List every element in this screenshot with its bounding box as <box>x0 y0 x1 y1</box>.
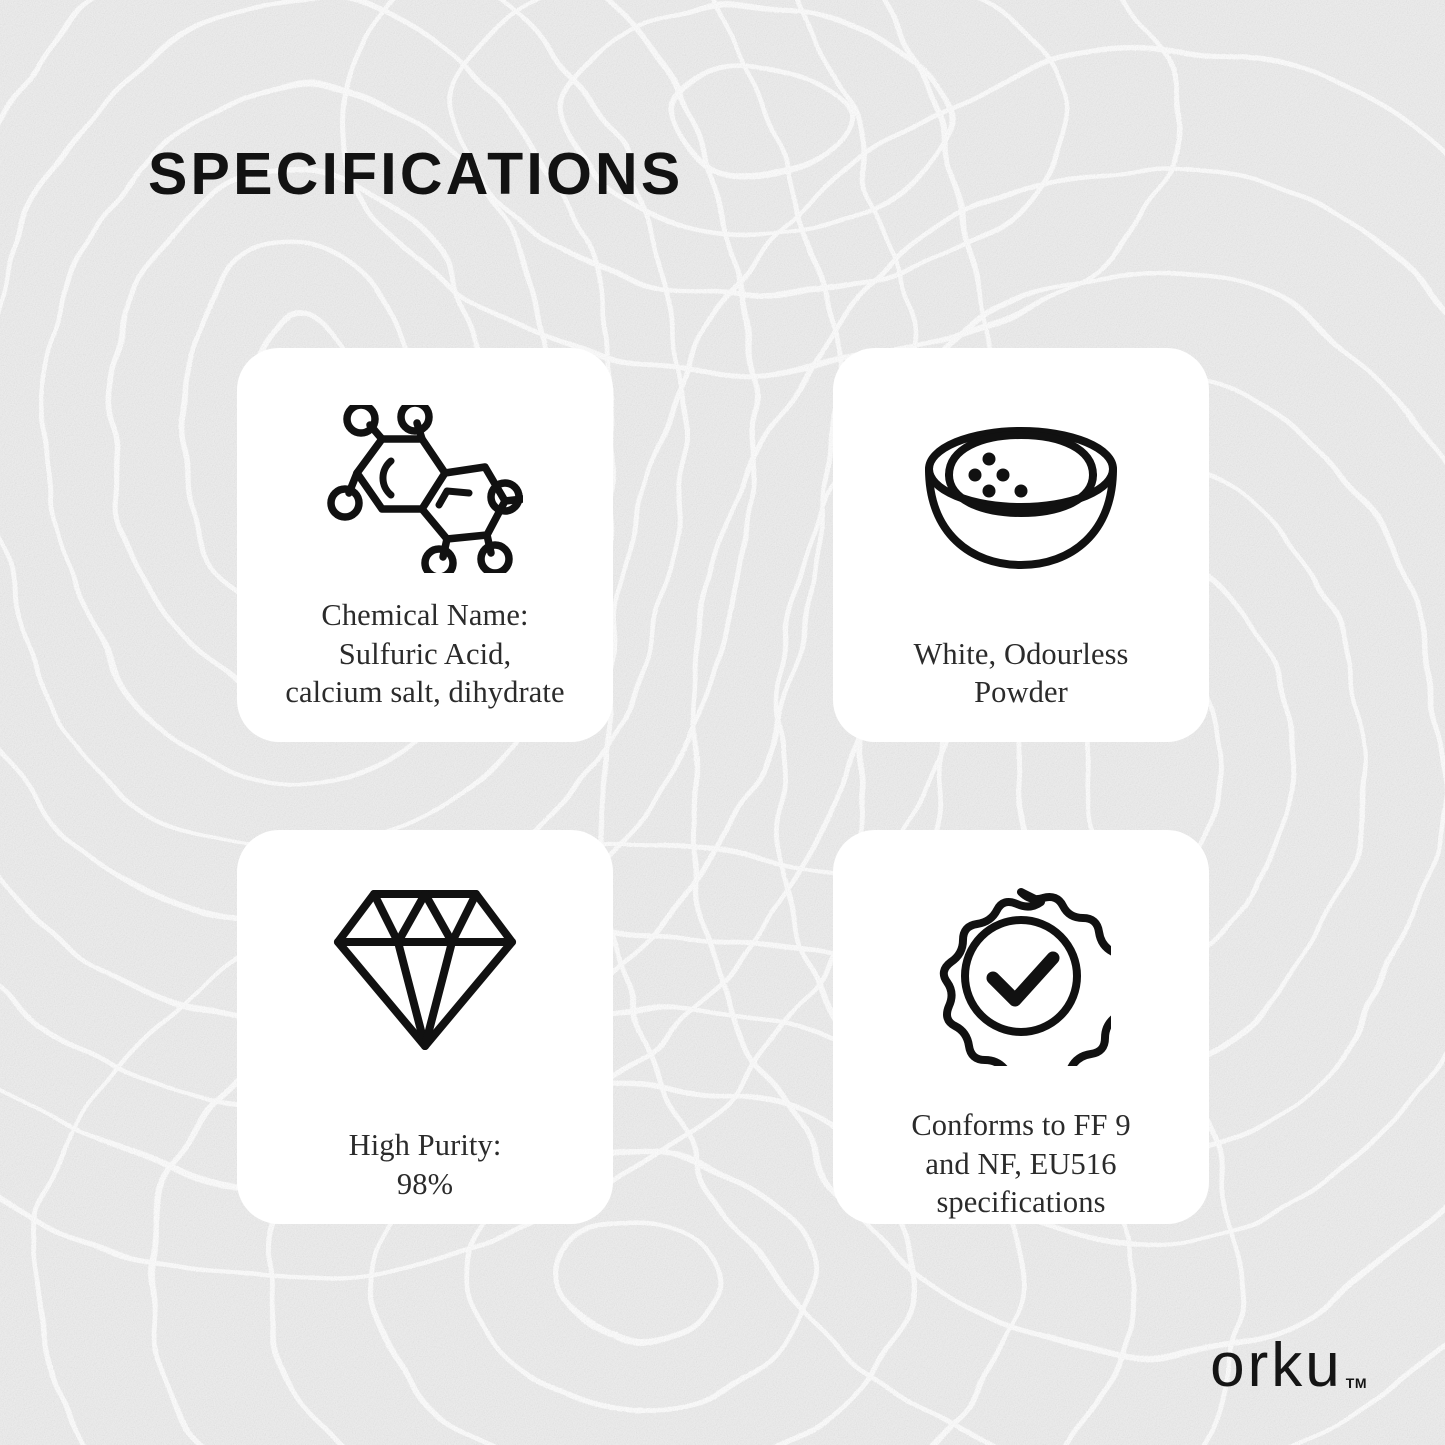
spec-card-appearance[interactable]: White, Odourless Powder <box>833 348 1209 742</box>
spec-card-label: Conforms to FF 9 and NF, EU516 specifica… <box>911 1106 1130 1222</box>
powder-bowl-icon <box>921 404 1121 589</box>
spec-card-label: High Purity: 98% <box>349 1126 502 1203</box>
spec-card-chemical-name[interactable]: Chemical Name: Sulfuric Acid, calcium sa… <box>237 348 613 742</box>
molecule-icon <box>327 404 523 574</box>
spec-card-label: White, Odourless Powder <box>913 635 1128 712</box>
diamond-icon <box>332 886 518 1054</box>
certified-badge-icon <box>931 886 1111 1066</box>
infographic-page: SPECIFICATIONS <box>0 0 1445 1445</box>
specification-card-grid: Chemical Name: Sulfuric Acid, calcium sa… <box>237 348 1209 1224</box>
spec-card-label: Chemical Name: Sulfuric Acid, calcium sa… <box>285 596 564 712</box>
page-title: SPECIFICATIONS <box>148 140 683 208</box>
spec-card-purity[interactable]: High Purity: 98% <box>237 830 613 1224</box>
brand-logo: orku TM <box>1210 1335 1367 1397</box>
spec-card-compliance[interactable]: Conforms to FF 9 and NF, EU516 specifica… <box>833 830 1209 1224</box>
brand-logo-wordmark: orku <box>1210 1335 1343 1397</box>
trademark-symbol: TM <box>1346 1375 1367 1391</box>
